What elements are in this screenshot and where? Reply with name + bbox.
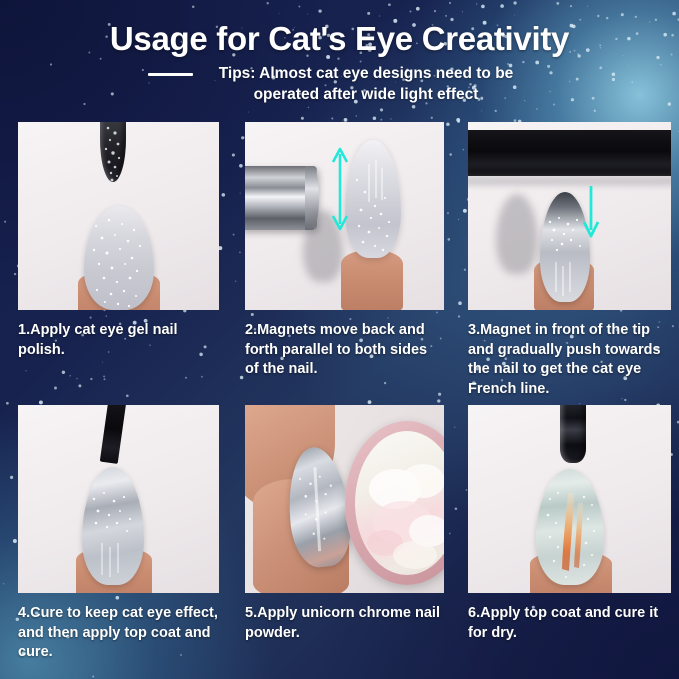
step-card-1: 1.Apply cat eye gel nail polish. (18, 122, 219, 360)
nail-glitter-specks (82, 467, 144, 585)
nail-glitter-specks (84, 206, 154, 310)
steps-grid: 1.Apply cat eye gel nail polish. (0, 122, 679, 665)
tips-text: Tips: Almost cat eye designs need to be … (201, 63, 531, 105)
brush-glitter-specks (98, 122, 130, 186)
step-caption-6: 6.Apply top coat and cure it for dry. (468, 604, 671, 643)
nail-chrome-streak (536, 469, 604, 585)
steps-row-2: 4.Cure to keep cat eye effect, and then … (0, 405, 679, 665)
step-photo-6 (468, 405, 671, 593)
step-photo-1 (18, 122, 219, 310)
header: Usage for Cat's Eye Creativity Tips: Alm… (0, 0, 679, 120)
powder-texture (355, 431, 444, 575)
step-card-4: 4.Cure to keep cat eye effect, and then … (18, 405, 219, 663)
step-photo-2 (245, 122, 444, 310)
magnet-bar (468, 130, 671, 176)
step-photo-5 (245, 405, 444, 593)
step-caption-2: 2.Magnets move back and forth parallel t… (245, 321, 444, 380)
step-card-5: 5.Apply unicorn chrome nail powder. (245, 405, 444, 643)
step-card-2: 2.Magnets move back and forth parallel t… (245, 122, 444, 380)
step-photo-3 (468, 122, 671, 310)
down-arrow-icon (578, 184, 604, 240)
step-card-6: 6.Apply top coat and cure it for dry. (468, 405, 671, 643)
tips-block: Tips: Almost cat eye designs need to be … (0, 63, 679, 105)
top-coat-bottle-cap (560, 405, 586, 463)
nail-glitter-specks (345, 140, 401, 258)
finger (341, 250, 403, 310)
step-caption-3: 3.Magnet in front of the tip and gradual… (468, 321, 671, 399)
tips-dash-icon (148, 73, 193, 76)
infographic-stage: Usage for Cat's Eye Creativity Tips: Alm… (0, 0, 679, 679)
step-caption-4: 4.Cure to keep cat eye effect, and then … (18, 604, 219, 663)
steps-row-1: 1.Apply cat eye gel nail polish. (0, 122, 679, 400)
step-caption-1: 1.Apply cat eye gel nail polish. (18, 321, 219, 360)
page-title: Usage for Cat's Eye Creativity (0, 20, 679, 58)
magnet-bar-shadow (468, 176, 671, 186)
step-card-3: 3.Magnet in front of the tip and gradual… (468, 122, 671, 399)
step-photo-4 (18, 405, 219, 593)
double-arrow-icon (327, 144, 353, 234)
step-caption-5: 5.Apply unicorn chrome nail powder. (245, 604, 444, 643)
